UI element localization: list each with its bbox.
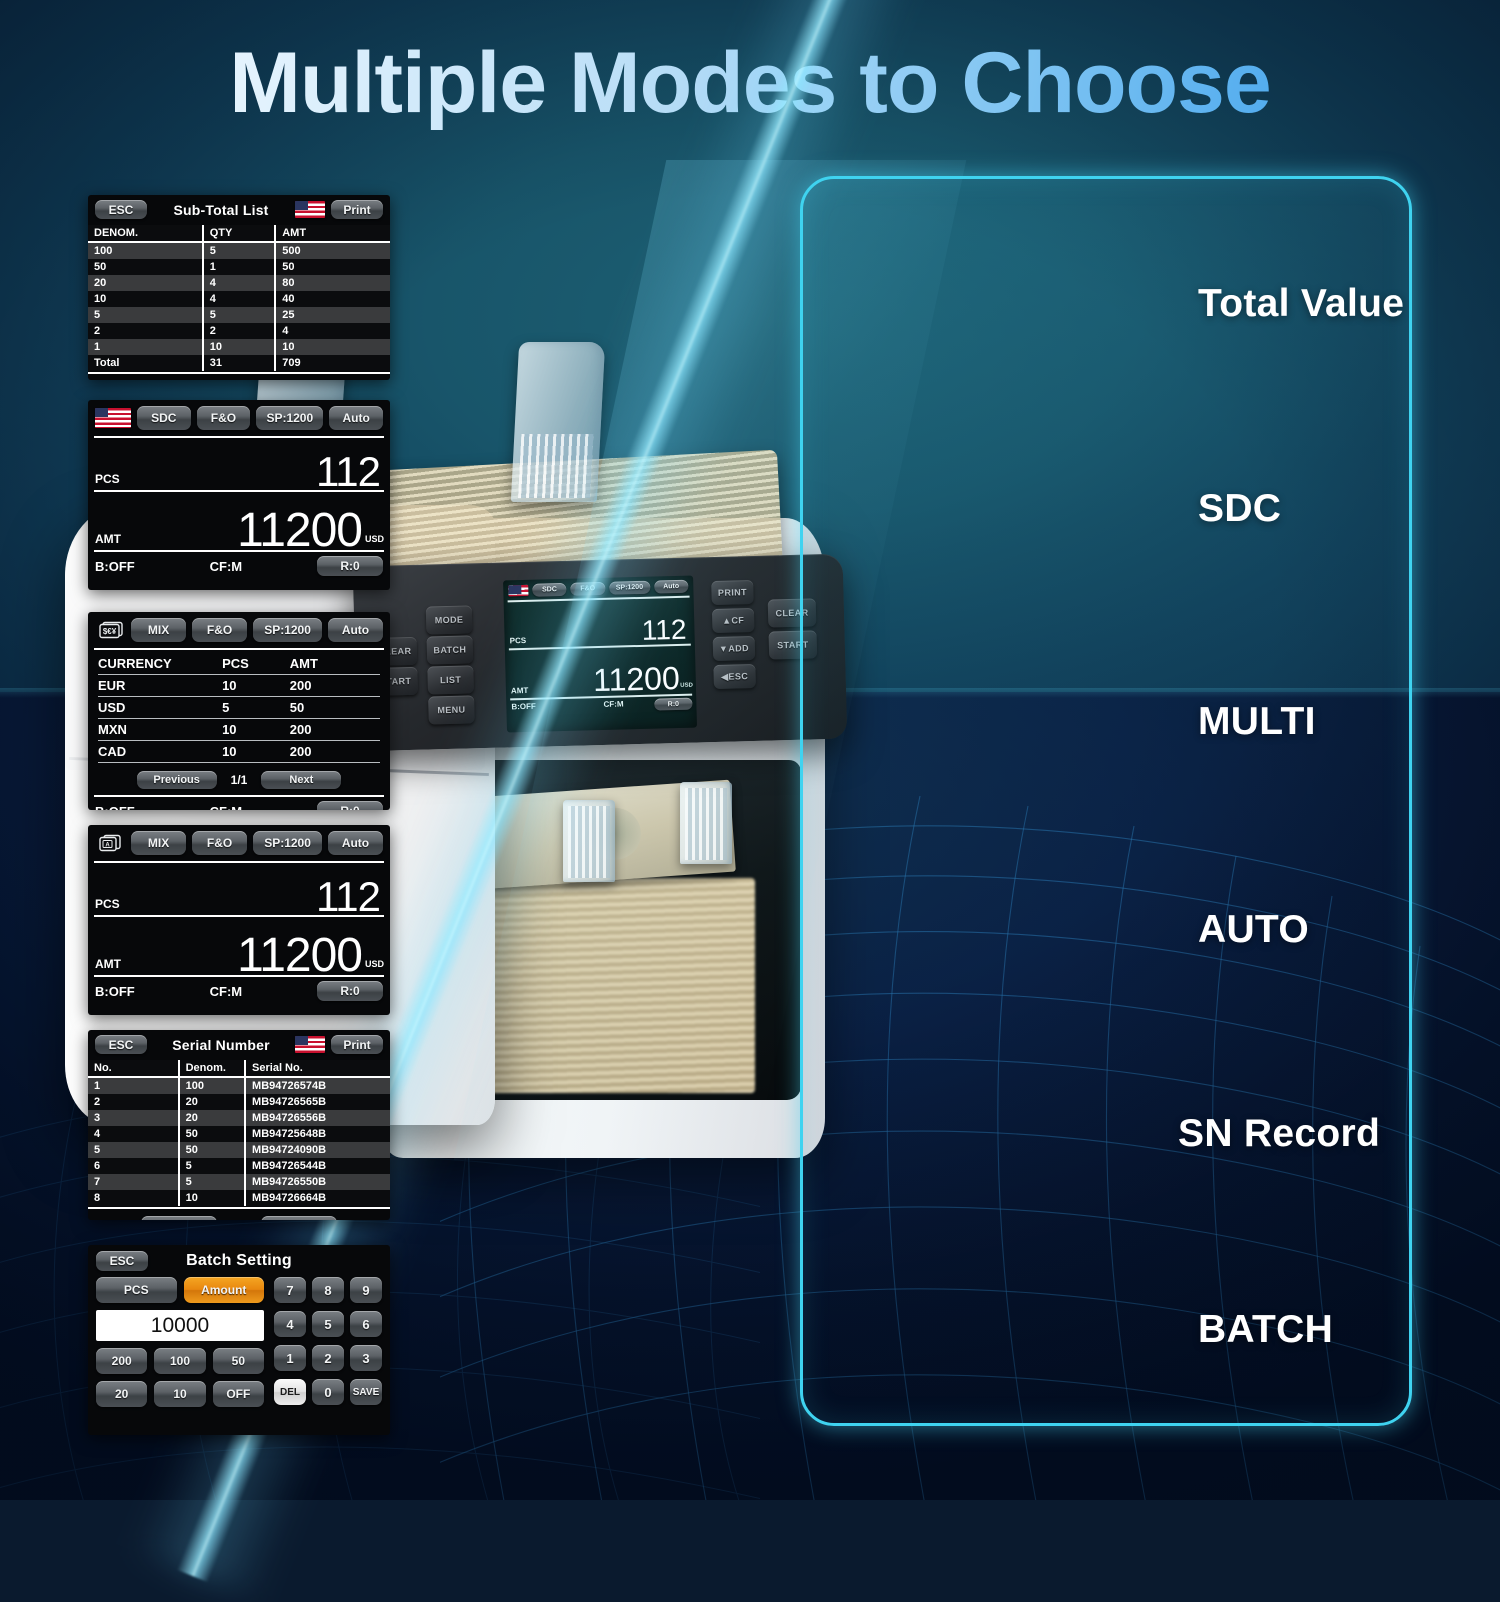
- tab-mix[interactable]: MIX: [131, 618, 186, 642]
- esc-button[interactable]: ESC: [95, 1035, 147, 1054]
- cell-amt: 200: [290, 741, 380, 763]
- machine-screen-reject: R:0: [654, 698, 692, 711]
- cell-serial: MB94724090B: [245, 1142, 390, 1158]
- screen-batch-header: ESC Batch Setting: [88, 1245, 390, 1273]
- screen-sdc-amt-row: AMT 11200 USD: [88, 492, 390, 550]
- cell-currency: USD: [98, 697, 222, 719]
- amt-value: 11200: [237, 503, 362, 558]
- batch-preset-row-2: 20 10 OFF: [96, 1381, 264, 1407]
- screen-total-value[interactable]: ESC Sub-Total List Print DENOM. QTY AMT …: [88, 195, 390, 380]
- screen-multi[interactable]: $€¥ MIX F&O SP:1200 Auto CURRENCY PCS AM…: [88, 612, 390, 810]
- cell-denom: 20: [179, 1094, 245, 1110]
- column-denom: DENOM.: [88, 225, 203, 242]
- cell-currency: CAD: [98, 741, 222, 763]
- page-indicator: 1/1: [231, 773, 248, 787]
- mode-label-multi: MULTI: [1198, 700, 1478, 744]
- cf-status: CF:M: [210, 984, 243, 999]
- cell-qty: 1: [203, 259, 275, 275]
- column-amt: AMT: [275, 225, 390, 242]
- column-no: No.: [88, 1060, 179, 1077]
- cell-qty: 4: [203, 291, 275, 307]
- batch-status: B:OFF: [95, 559, 135, 574]
- tab-fo[interactable]: F&O: [192, 831, 247, 855]
- cell-qty: 4: [203, 275, 275, 291]
- key-9[interactable]: 9: [350, 1277, 382, 1303]
- machine-button-add-down[interactable]: ▼ADD: [713, 636, 756, 661]
- cell-total-amt: 709: [275, 355, 390, 371]
- key-5[interactable]: 5: [312, 1311, 344, 1337]
- cell-denom: 5: [179, 1158, 245, 1174]
- multi-currency-table: CURRENCY PCS AMT EUR10200 USD550 MXN1020…: [98, 653, 380, 763]
- key-4[interactable]: 4: [274, 1311, 306, 1337]
- tab-fo[interactable]: F&O: [192, 618, 247, 642]
- batch-keypad: 7 8 9 4 5 6 1 2 3 DEL 0 SAVE: [274, 1277, 382, 1407]
- key-3[interactable]: 3: [350, 1345, 382, 1371]
- cell-no: 3: [88, 1110, 179, 1126]
- mode-label-sdc: SDC: [1198, 487, 1478, 531]
- cell-currency: EUR: [98, 675, 222, 697]
- esc-button[interactable]: ESC: [96, 1251, 148, 1271]
- cell-denom: 20: [179, 1110, 245, 1126]
- table-row: 20480: [88, 275, 390, 291]
- batch-mode-amount-button[interactable]: Amount: [184, 1277, 265, 1303]
- cell-pcs: 5: [222, 697, 290, 719]
- tab-speed[interactable]: SP:1200: [253, 831, 322, 855]
- column-pcs: PCS: [222, 653, 290, 675]
- cell-total-label: Total: [88, 355, 203, 371]
- page-indicator: 1/2: [231, 1219, 248, 1220]
- screen-auto-pcs-row: PCS 112: [88, 863, 390, 915]
- machine-screen-pcs-value: 112: [641, 614, 686, 647]
- machine-screen-tab-auto[interactable]: Auto: [654, 580, 689, 594]
- us-flag-icon: [508, 585, 528, 597]
- serial-number-table: No. Denom. Serial No. 1100MB94726574B 22…: [88, 1060, 390, 1206]
- stacker-guide-left: [563, 800, 615, 882]
- cell-denom: 10: [179, 1190, 245, 1206]
- tab-sdc[interactable]: SDC: [137, 406, 191, 430]
- cell-denom: 50: [179, 1126, 245, 1142]
- machine-button-esc-left[interactable]: ◀ESC: [713, 664, 756, 689]
- batch-mode-row: PCS Amount: [96, 1277, 264, 1303]
- cell-no: 4: [88, 1126, 179, 1142]
- tab-fo[interactable]: F&O: [197, 406, 251, 430]
- back-button[interactable]: Back: [141, 1216, 217, 1220]
- column-amt: AMT: [290, 653, 380, 675]
- machine-button-menu[interactable]: MENU: [428, 695, 475, 724]
- pcs-label: PCS: [95, 897, 120, 911]
- batch-value-input[interactable]: 10000: [96, 1310, 264, 1341]
- auto-cards-icon: A: [95, 834, 125, 852]
- screen-multi-toolbar: $€¥ MIX F&O SP:1200 Auto: [88, 612, 390, 648]
- cell-denom: 5: [179, 1174, 245, 1190]
- table-row: 220MB94726565B: [88, 1094, 390, 1110]
- cell-amt: 50: [275, 259, 390, 275]
- amt-unit: USD: [365, 534, 384, 544]
- next-button[interactable]: Next: [261, 1216, 337, 1220]
- svg-text:A: A: [105, 843, 110, 849]
- modes-showcase-panel: [800, 176, 1412, 1426]
- cell-no: 7: [88, 1174, 179, 1190]
- us-flag-icon: [95, 408, 131, 428]
- cell-no: 5: [88, 1142, 179, 1158]
- table-row: 65MB94726544B: [88, 1158, 390, 1174]
- cell-serial: MB94726556B: [245, 1110, 390, 1126]
- cell-serial: MB94726550B: [245, 1174, 390, 1190]
- cell-amt: 200: [290, 675, 380, 697]
- cell-pcs: 10: [222, 719, 290, 741]
- table-row: 5525: [88, 307, 390, 323]
- key-1[interactable]: 1: [274, 1345, 306, 1371]
- tab-speed[interactable]: SP:1200: [253, 618, 322, 642]
- column-denom: Denom.: [179, 1060, 245, 1077]
- cell-serial: MB94725648B: [245, 1126, 390, 1142]
- sub-total-table: DENOM. QTY AMT 1005500 50150 20480 10440…: [88, 225, 390, 371]
- cell-serial: MB94726565B: [245, 1094, 390, 1110]
- cell-qty: 10: [203, 339, 275, 355]
- batch-status: B:OFF: [95, 984, 135, 999]
- cell-amt: 25: [275, 307, 390, 323]
- preset-50-button[interactable]: 50: [213, 1348, 264, 1374]
- cell-amt: 10: [275, 339, 390, 355]
- table-row: USD550: [98, 697, 380, 719]
- screen-auto-toolbar: A MIX F&O SP:1200 Auto: [88, 825, 390, 861]
- machine-button-cf-up[interactable]: ▲CF: [712, 608, 755, 633]
- batch-mode-pcs-button[interactable]: PCS: [96, 1277, 177, 1303]
- machine-button-print[interactable]: PRINT: [711, 580, 754, 605]
- cell-qty: 5: [203, 242, 275, 259]
- cell-no: 8: [88, 1190, 179, 1206]
- screen-sn-record-title: Serial Number: [172, 1037, 270, 1053]
- cell-denom: 100: [179, 1077, 245, 1094]
- us-flag-icon: [295, 1036, 325, 1053]
- batch-status: B:OFF: [95, 804, 135, 811]
- screen-batch[interactable]: ESC Batch Setting PCS Amount 10000 200 1…: [88, 1245, 390, 1435]
- machine-screen-amt-value: 11200: [593, 660, 681, 699]
- machine-screen-tab-speed[interactable]: SP:1200: [609, 581, 650, 595]
- batch-left-column: PCS Amount 10000 200 100 50 20 10 OFF: [96, 1277, 264, 1407]
- key-6[interactable]: 6: [350, 1311, 382, 1337]
- pcs-label: PCS: [95, 472, 120, 486]
- batch-preset-row-1: 200 100 50: [96, 1348, 264, 1374]
- reject-count: R:0: [317, 981, 383, 1001]
- table-row: 50150: [88, 259, 390, 275]
- stacker-guide-right: [680, 782, 732, 864]
- screen-sn-record-header: ESC Serial Number Print: [88, 1030, 390, 1060]
- table-row: 810MB94726664B: [88, 1190, 390, 1206]
- cf-status: CF:M: [210, 559, 243, 574]
- machine-button-batch[interactable]: BATCH: [427, 635, 474, 664]
- reject-count: R:0: [317, 556, 383, 576]
- table-row: CAD10200: [98, 741, 380, 763]
- cell-denom: 20: [88, 275, 203, 291]
- table-row: MXN10200: [98, 719, 380, 741]
- machine-screen-amt-label: AMT: [511, 686, 529, 695]
- machine-lcd-screen: SDC F&O SP:1200 Auto PCS 112 AMT 11200 U…: [503, 576, 697, 733]
- screen-auto[interactable]: A MIX F&O SP:1200 Auto PCS 112 AMT 11200…: [88, 825, 390, 1015]
- cell-qty: 2: [203, 323, 275, 339]
- amt-unit: USD: [365, 959, 384, 969]
- cell-denom: 10: [88, 291, 203, 307]
- key-save[interactable]: SAVE: [350, 1379, 382, 1405]
- column-currency: CURRENCY: [98, 653, 222, 675]
- cell-serial: MB94726664B: [245, 1190, 390, 1206]
- cell-serial: MB94726544B: [245, 1158, 390, 1174]
- mode-label-total-value: Total Value: [1198, 282, 1478, 326]
- table-row: 1005500: [88, 242, 390, 259]
- cell-currency: MXN: [98, 719, 222, 741]
- screen-batch-title: Batch Setting: [148, 1252, 330, 1270]
- cell-amt: 50: [290, 697, 380, 719]
- screen-sdc-pcs-row: PCS 112: [88, 438, 390, 490]
- screen-auto-amt-row: AMT 11200 USD: [88, 917, 390, 975]
- cf-status: CF:M: [210, 804, 243, 811]
- us-flag-icon: [295, 201, 325, 218]
- tab-mix[interactable]: MIX: [131, 831, 186, 855]
- column-qty: QTY: [203, 225, 275, 242]
- table-row: 11010: [88, 339, 390, 355]
- screen-sn-record[interactable]: ESC Serial Number Print No. Denom. Seria…: [88, 1030, 390, 1220]
- pcs-value: 112: [316, 873, 380, 921]
- cell-denom: 50: [88, 259, 203, 275]
- table-row: 75MB94726550B: [88, 1174, 390, 1190]
- cell-pcs: 10: [222, 675, 290, 697]
- machine-button-mode[interactable]: MODE: [426, 605, 473, 634]
- amt-label: AMT: [95, 957, 121, 971]
- reject-count: R:0: [317, 801, 383, 810]
- amt-value: 11200: [237, 928, 362, 983]
- svg-text:$€¥: $€¥: [103, 627, 117, 636]
- preset-200-button[interactable]: 200: [96, 1348, 147, 1374]
- key-8[interactable]: 8: [312, 1277, 344, 1303]
- table-row: 320MB94726556B: [88, 1110, 390, 1126]
- table-row: 224: [88, 323, 390, 339]
- print-button[interactable]: Print: [331, 1035, 383, 1054]
- screen-multi-statusbar: B:OFF CF:M R:0: [88, 797, 390, 810]
- mode-label-batch: BATCH: [1198, 1308, 1478, 1352]
- machine-button-list[interactable]: LIST: [427, 665, 474, 694]
- preset-10-button[interactable]: 10: [154, 1381, 205, 1407]
- machine-control-panel: CLEAR START MODE BATCH LIST MENU SDC F&O…: [353, 554, 848, 752]
- machine-screen-tab-fo[interactable]: F&O: [570, 582, 605, 596]
- screen-total-value-pager: Back 1/1 Next: [88, 375, 390, 380]
- page-title: Multiple Modes to Choose: [0, 34, 1500, 133]
- preset-20-button[interactable]: 20: [96, 1381, 147, 1407]
- amt-label: AMT: [95, 532, 121, 546]
- tab-speed[interactable]: SP:1200: [256, 406, 323, 430]
- print-button[interactable]: Print: [331, 200, 383, 219]
- cell-qty: 5: [203, 307, 275, 323]
- previous-button[interactable]: Previous: [137, 771, 217, 789]
- screen-multi-pager: Previous 1/1 Next: [88, 763, 390, 795]
- key-2[interactable]: 2: [312, 1345, 344, 1371]
- screen-sdc[interactable]: SDC F&O SP:1200 Auto PCS 112 AMT 11200 U…: [88, 400, 390, 590]
- table-row: EUR10200: [98, 675, 380, 697]
- cell-serial: MB94726574B: [245, 1077, 390, 1094]
- cell-denom: 5: [88, 307, 203, 323]
- cell-denom: 50: [179, 1142, 245, 1158]
- mode-label-sn-record: SN Record: [1178, 1112, 1478, 1156]
- mode-label-auto: AUTO: [1198, 908, 1478, 952]
- table-header-row: CURRENCY PCS AMT: [98, 653, 380, 675]
- machine-screen-pcs-label: PCS: [510, 636, 527, 645]
- preset-off-button[interactable]: OFF: [213, 1381, 264, 1407]
- table-row-total: Total31709: [88, 355, 390, 371]
- tab-auto[interactable]: Auto: [328, 618, 383, 642]
- next-button[interactable]: Next: [261, 771, 341, 789]
- esc-button[interactable]: ESC: [95, 200, 147, 219]
- preset-100-button[interactable]: 100: [154, 1348, 205, 1374]
- key-7[interactable]: 7: [274, 1277, 306, 1303]
- cell-amt: 500: [275, 242, 390, 259]
- cell-no: 1: [88, 1077, 179, 1094]
- cell-amt: 4: [275, 323, 390, 339]
- key-delete[interactable]: DEL: [274, 1379, 306, 1405]
- tab-auto[interactable]: Auto: [329, 406, 383, 430]
- screen-sdc-toolbar: SDC F&O SP:1200 Auto: [88, 400, 390, 436]
- cell-amt: 80: [275, 275, 390, 291]
- machine-screen-tab-sdc[interactable]: SDC: [532, 583, 567, 597]
- cell-no: 2: [88, 1094, 179, 1110]
- key-0[interactable]: 0: [312, 1379, 344, 1405]
- screen-batch-body: PCS Amount 10000 200 100 50 20 10 OFF 7 …: [88, 1273, 390, 1415]
- cell-denom: 2: [88, 323, 203, 339]
- cell-denom: 1: [88, 339, 203, 355]
- cell-denom: 100: [88, 242, 203, 259]
- machine-screen-amt-unit: USD: [680, 683, 693, 689]
- machine-screen-batch-status: B:OFF: [511, 702, 536, 712]
- screen-sn-record-pager: Back 1/2 Next: [88, 1210, 390, 1220]
- cell-pcs: 10: [222, 741, 290, 763]
- table-row: 450MB94725648B: [88, 1126, 390, 1142]
- screen-total-value-header: ESC Sub-Total List Print: [88, 195, 390, 225]
- multi-currency-icon: $€¥: [95, 621, 125, 639]
- tab-auto[interactable]: Auto: [328, 831, 383, 855]
- cell-amt: 40: [275, 291, 390, 307]
- table-row: 550MB94724090B: [88, 1142, 390, 1158]
- cell-total-qty: 31: [203, 355, 275, 371]
- table-row: 1100MB94726574B: [88, 1077, 390, 1094]
- column-serial: Serial No.: [245, 1060, 390, 1077]
- hopper-guide-right: [511, 342, 605, 502]
- cell-no: 6: [88, 1158, 179, 1174]
- cell-amt: 200: [290, 719, 380, 741]
- table-row: 10440: [88, 291, 390, 307]
- screen-total-value-title: Sub-Total List: [173, 202, 268, 218]
- pcs-value: 112: [316, 448, 380, 496]
